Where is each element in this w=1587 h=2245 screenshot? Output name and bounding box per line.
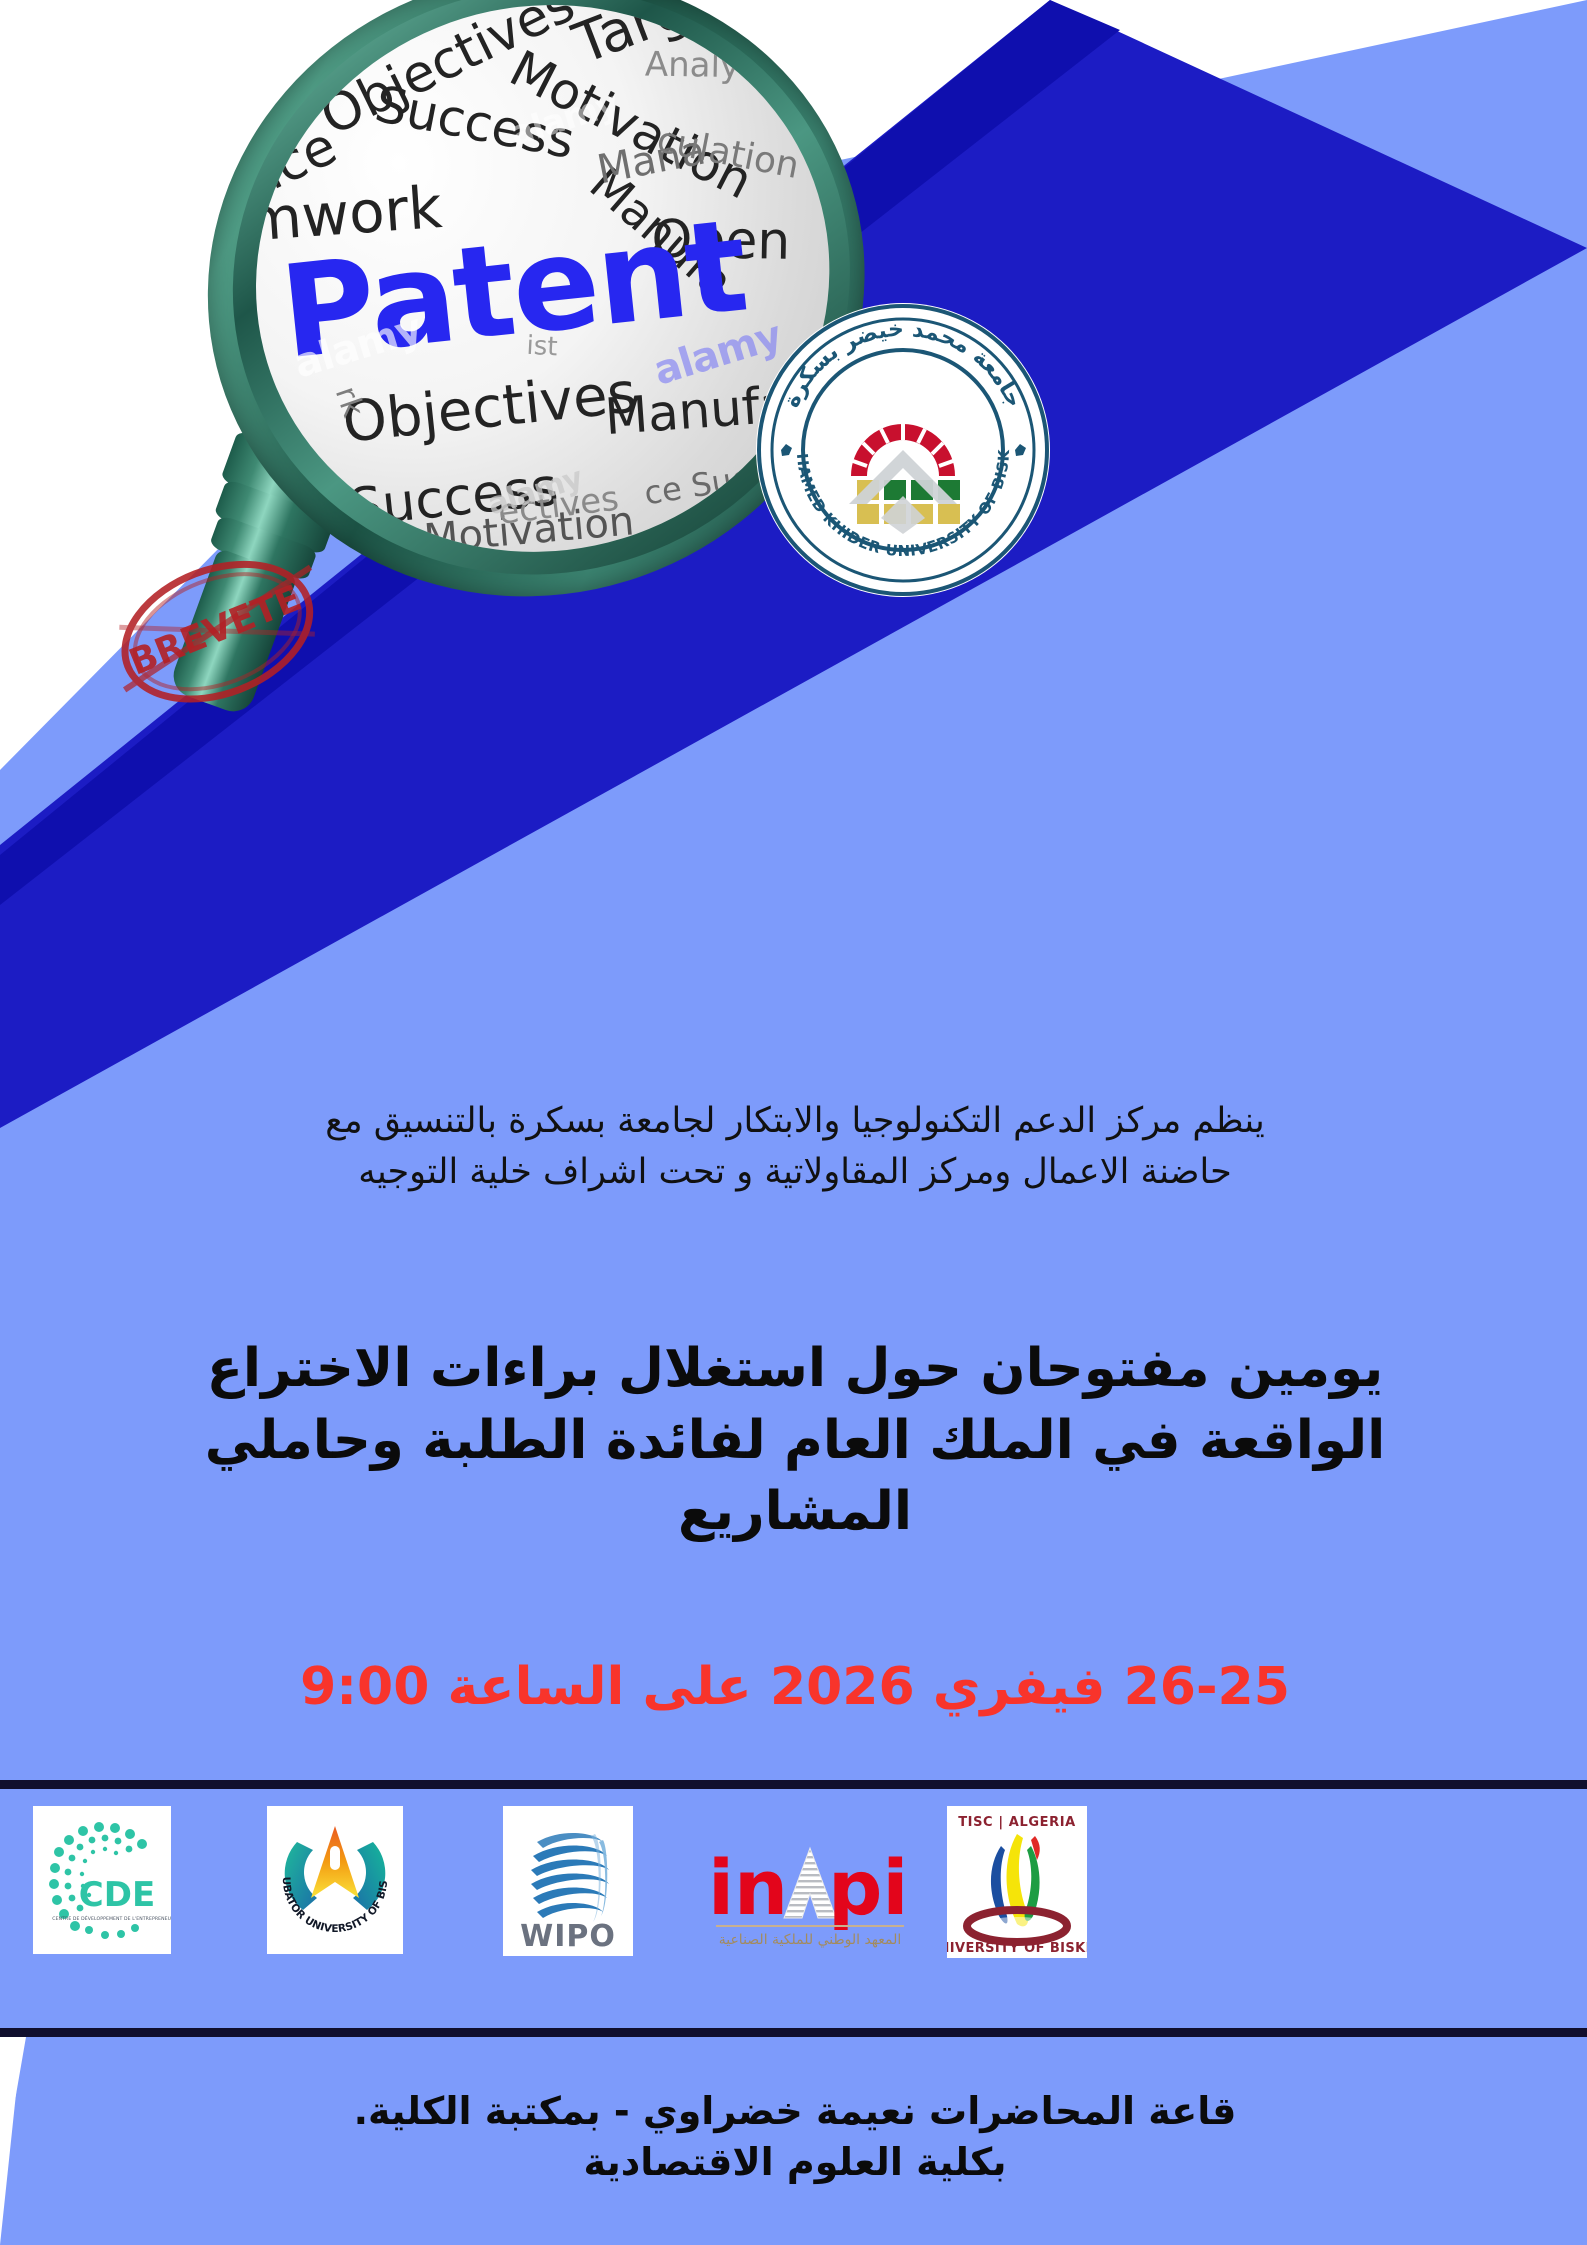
divider-top <box>0 1780 1587 1789</box>
logo-tisc-top-text: TISC | ALGERIA <box>958 1815 1076 1830</box>
lens-word: Analy <box>645 44 741 86</box>
organizer-text: ينظم مركز الدعم التكنولوجيا والابتكار لج… <box>95 1096 1495 1198</box>
logo-wipo-acronym: WIPO <box>520 1919 616 1954</box>
logo-wipo: WIPO <box>503 1806 633 1956</box>
venue-line-1: قاعة المحاضرات نعيمة خضراوي - بمكتبة الك… <box>95 2086 1495 2137</box>
venue-line-2: بكلية العلوم الاقتصادية <box>95 2137 1495 2188</box>
title-line-3: المشاريع <box>95 1476 1495 1548</box>
logo-tisc-algeria: TISC | ALGERIA UNIVERSITY OF BISKRA <box>947 1806 1087 1958</box>
logo-inapi: in pi المعهد الوطني للملكية الصناعية <box>700 1832 920 1952</box>
logo-inapi-acronym: in <box>708 1843 788 1932</box>
logo-cde-subtitle: CENTRE DE DÉVELOPPEMENT DE L'ENTREPRENEU… <box>52 1914 171 1922</box>
title-line-1: يومين مفتوحان حول استغلال براءات الاخترا… <box>95 1333 1495 1405</box>
logo-inapi-acronym-2: pi <box>828 1843 908 1932</box>
logo-cde: CDE CENTRE DE DÉVELOPPEMENT DE L'ENTREPR… <box>33 1806 171 1954</box>
logo-inapi-subtitle: المعهد الوطني للملكية الصناعية <box>719 1932 902 1948</box>
poster-title: يومين مفتوحان حول استغلال براءات الاخترا… <box>95 1333 1495 1548</box>
organizer-line-1: ينظم مركز الدعم التكنولوجيا والابتكار لج… <box>95 1096 1495 1147</box>
logo-cde-acronym: CDE <box>79 1875 155 1915</box>
event-date-time: 26-25 فيفري 2026 على الساعة 9:00 <box>95 1654 1495 1722</box>
venue-text: قاعة المحاضرات نعيمة خضراوي - بمكتبة الك… <box>95 2086 1495 2189</box>
university-seal: جامعة محمد خيضر بسكرة MOHAMED KHIDER UNI… <box>753 300 1053 600</box>
divider-bottom <box>0 2028 1587 2037</box>
logo-tisc-bottom-text: UNIVERSITY OF BISKRA <box>947 1941 1087 1956</box>
organizer-line-2: حاضنة الاعمال ومركز المقاولاتية و تحت اش… <box>95 1147 1495 1198</box>
logo-incubator-university-of-biskra: INCUBATOR UNIVERSITY OF BISKRA <box>267 1806 403 1954</box>
title-line-2: الواقعة في الملك العام لفائدة الطلبة وحا… <box>95 1405 1495 1477</box>
poster-canvas: Objectives nce Success Target mwork Moti… <box>0 0 1587 2245</box>
